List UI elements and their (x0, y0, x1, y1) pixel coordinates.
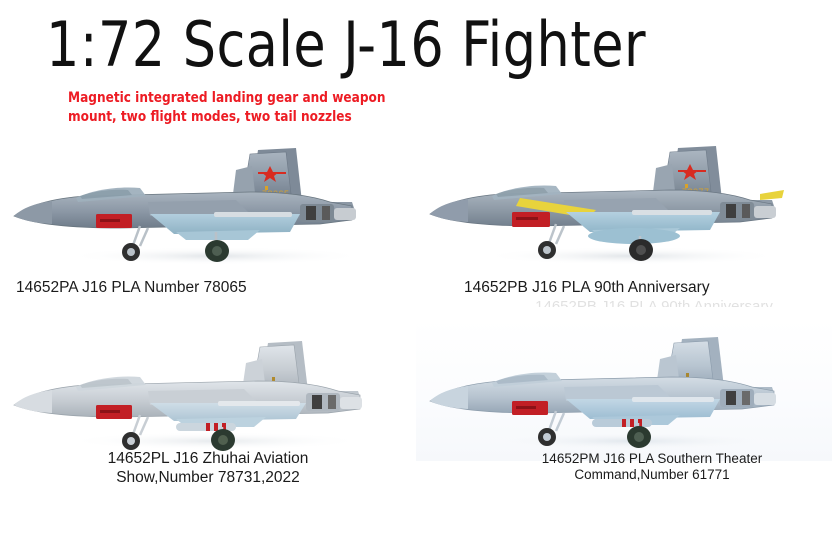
jet-illustration-14652PB: 78077 (416, 136, 832, 278)
product-photo-14652PA: 78065 (0, 136, 416, 278)
product-photo-14652PL: 78731 (0, 319, 416, 461)
feature-subtitle-line-2: mount, two flight modes, two tail nozzle… (68, 108, 468, 127)
product-caption-14652PA: 14652PA J16 PLA Number 78065 (0, 278, 416, 297)
product-photo-14652PM: 61771 (416, 319, 832, 461)
jet-illustration-14652PL: 78731 (0, 319, 416, 461)
product-caption-14652PB: 14652PB J16 PLA 90th Anniversary (416, 278, 832, 297)
nose-cone (14, 201, 52, 224)
nose-cone (14, 390, 52, 413)
product-card-14652PL[interactable]: 78731 (0, 319, 416, 497)
nose-cone (430, 386, 468, 409)
wingtip-missile (632, 397, 714, 402)
product-card-14652PM[interactable]: 61771 (416, 319, 832, 497)
wingtip-missile (214, 212, 292, 217)
product-card-14652PB[interactable]: 78077 (416, 136, 832, 312)
product-collage-page: 1:72 Scale J-16 Fighter Magnetic integra… (0, 0, 832, 545)
product-caption-14652PM: 14652PM J16 PLA Southern Theater Command… (416, 451, 832, 483)
product-caption-14652PB-clipped-line: 14652PB J16 PLA 90th Anniversary (416, 299, 832, 307)
feature-subtitle: Magnetic integrated landing gear and wea… (68, 89, 468, 126)
product-grid: 78065 (0, 136, 832, 545)
wingtip-missile (218, 401, 300, 406)
product-card-14652PA[interactable]: 78065 (0, 136, 416, 312)
tailplane-yellow-tip (760, 190, 784, 200)
nose-cone (430, 199, 468, 222)
jet-illustration-14652PM: 61771 (416, 319, 832, 461)
page-title: 1:72 Scale J-16 Fighter (46, 6, 789, 84)
jet-illustration-14652PA: 78065 (0, 136, 416, 278)
product-caption-14652PL: 14652PL J16 Zhuhai Aviation Show,Number … (0, 449, 416, 487)
product-photo-14652PB: 78077 (416, 136, 832, 278)
feature-subtitle-line-1: Magnetic integrated landing gear and wea… (68, 89, 468, 108)
header: 1:72 Scale J-16 Fighter Magnetic integra… (0, 0, 832, 138)
wingtip-missile (632, 210, 712, 215)
rocket-pod (592, 419, 652, 427)
